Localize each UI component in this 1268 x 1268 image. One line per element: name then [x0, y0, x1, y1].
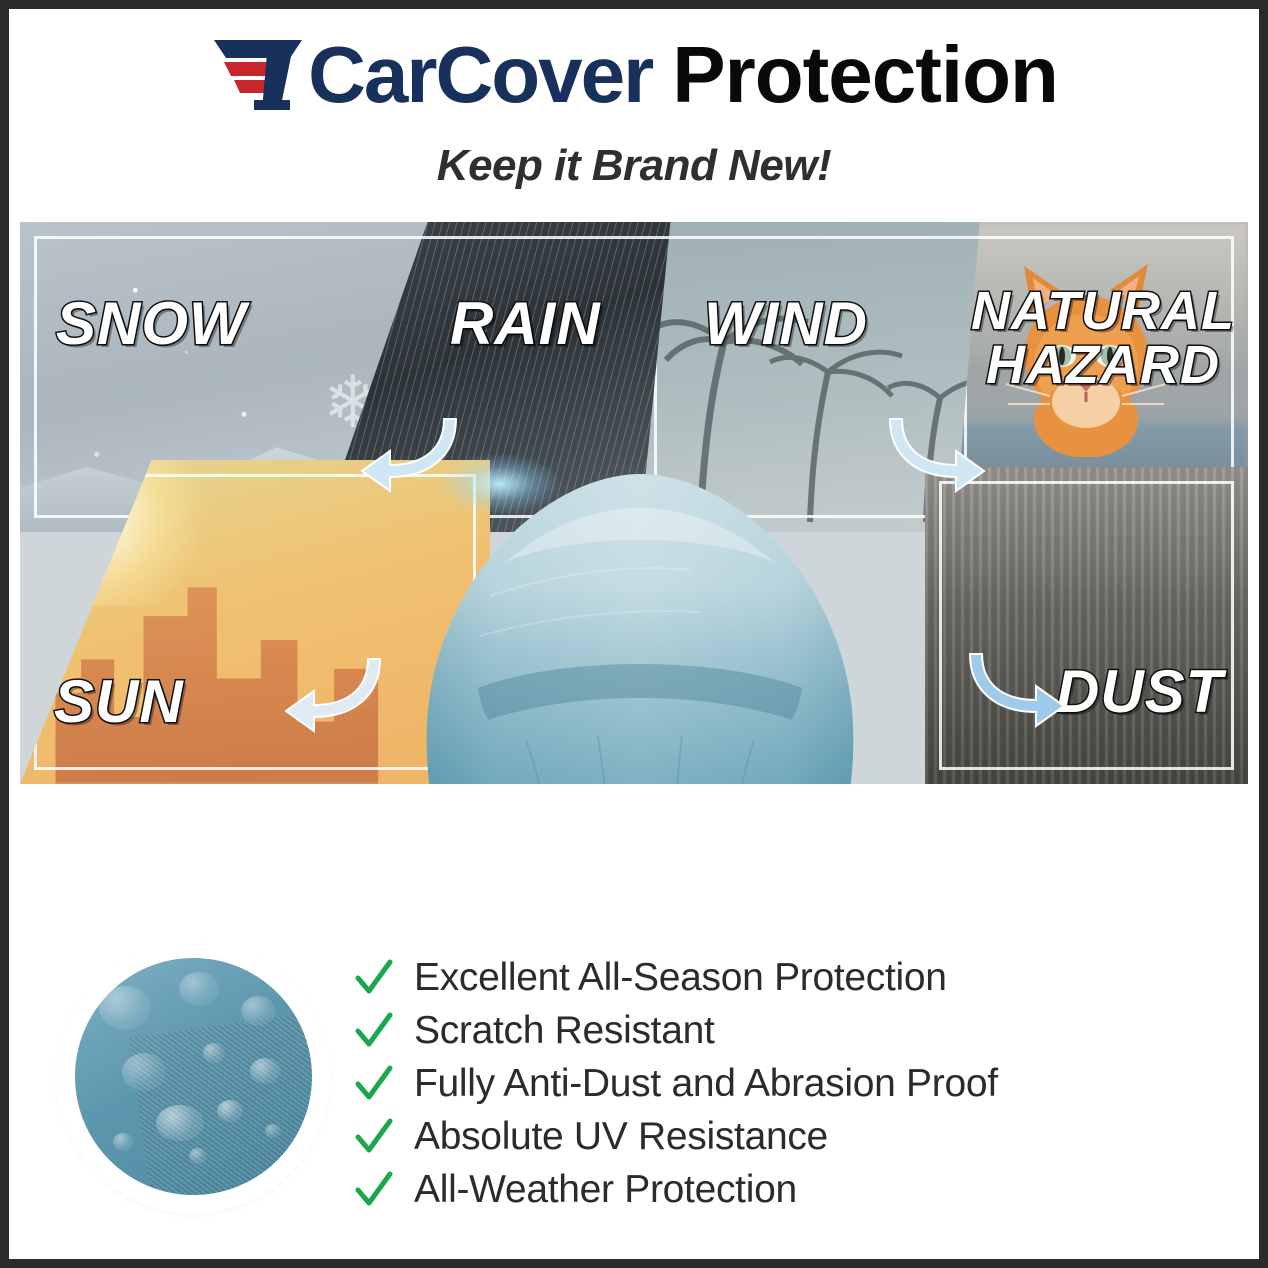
- brand-name-primary: CarCover: [308, 36, 652, 114]
- panel-label-snow: SNOW: [56, 294, 247, 354]
- feature-label: Absolute UV Resistance: [414, 1115, 828, 1159]
- green-check-icon: [354, 1064, 394, 1104]
- panel-label-dust: DUST: [1056, 662, 1223, 722]
- protection-collage: ❄: [20, 222, 1248, 784]
- water-bead-fabric-icon: [66, 949, 321, 1204]
- panel-label-natural-hazard: NATURAL HAZARD: [968, 284, 1238, 392]
- feature-label: Scratch Resistant: [414, 1009, 715, 1053]
- poster-frame: CarCover Protection Keep it Brand New! ❄: [9, 9, 1259, 1259]
- feature-list: Excellent All-Season Protection Scratch …: [354, 951, 1184, 1216]
- curved-deflect-arrow-icon: [356, 407, 466, 517]
- feature-section: Excellent All-Season Protection Scratch …: [9, 799, 1259, 1259]
- curved-deflect-arrow-icon: [880, 407, 990, 517]
- feature-item: Absolute UV Resistance: [354, 1110, 1184, 1163]
- brand-name-secondary: Protection: [672, 36, 1058, 114]
- green-check-icon: [354, 958, 394, 998]
- feature-item: Excellent All-Season Protection: [354, 951, 1184, 1004]
- feature-label: All-Weather Protection: [414, 1168, 797, 1212]
- curved-deflect-arrow-icon: [960, 642, 1070, 752]
- feature-label: Excellent All-Season Protection: [414, 956, 947, 1000]
- curved-deflect-arrow-icon: [280, 647, 390, 757]
- feature-item: Scratch Resistant: [354, 1004, 1184, 1057]
- panel-label-wind: WIND: [704, 294, 868, 354]
- feature-label: Fully Anti-Dust and Abrasion Proof: [414, 1062, 998, 1106]
- green-check-icon: [354, 1117, 394, 1157]
- panel-label-sun: SUN: [54, 672, 184, 732]
- poster-header: CarCover Protection Keep it Brand New!: [9, 9, 1259, 194]
- panel-label-rain: RAIN: [450, 294, 601, 354]
- poster-tagline: Keep it Brand New!: [9, 141, 1259, 191]
- brand-lockup: CarCover Protection: [9, 31, 1259, 119]
- bead-surface: [75, 958, 312, 1195]
- icarcover-chevron-logo-icon: [210, 36, 306, 114]
- feature-item: All-Weather Protection: [354, 1163, 1184, 1216]
- green-check-icon: [354, 1011, 394, 1051]
- green-check-icon: [354, 1170, 394, 1210]
- feature-item: Fully Anti-Dust and Abrasion Proof: [354, 1057, 1184, 1110]
